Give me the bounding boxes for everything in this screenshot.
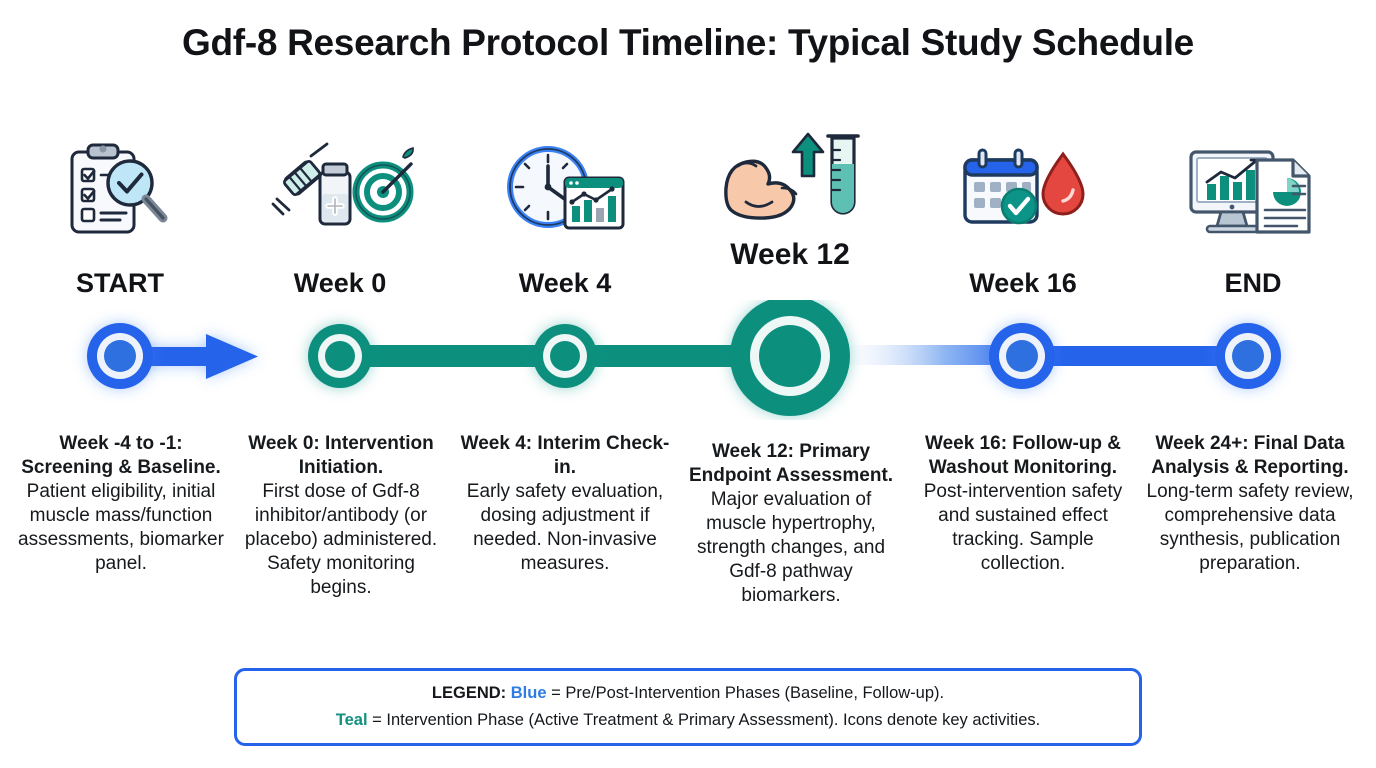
- clipboard-magnifier-icon: [0, 150, 240, 240]
- connector-week0-week4: [340, 345, 565, 367]
- legend-blue-desc: = Pre/Post-Intervention Phases (Baseline…: [551, 684, 944, 702]
- infographic-canvas: Gdf-8 Research Protocol Timeline: Typica…: [0, 0, 1376, 768]
- legend-line-2: Teal = Intervention Phase (Active Treatm…: [336, 707, 1040, 734]
- node-week-16: [989, 323, 1055, 389]
- caption-heading: Week 12: Primary Endpoint Assessment.: [680, 440, 902, 488]
- legend-blue-key: Blue: [511, 684, 547, 702]
- caption-heading: Week -4 to -1: Screening & Baseline.: [12, 432, 230, 480]
- calendar-check-blooddrop-icon: [912, 150, 1134, 240]
- caption-body: Patient eligibility, initial muscle mass…: [12, 480, 230, 576]
- node-week-0: [308, 324, 372, 388]
- page-title: Gdf-8 Research Protocol Timeline: Typica…: [0, 22, 1376, 64]
- milestone-label-week-16: Week 16: [912, 268, 1134, 299]
- legend-teal-desc: = Intervention Phase (Active Treatment &…: [372, 711, 1040, 729]
- node-week-4: [533, 324, 597, 388]
- legend-box: LEGEND: Blue = Pre/Post-Intervention Pha…: [234, 668, 1142, 746]
- connector-week16-end: [1022, 346, 1248, 366]
- bicep-arrow-testtube-icon: [675, 130, 905, 230]
- clock-dashboard-icon: [455, 150, 675, 240]
- caption-body: First dose of Gdf-8 inhibitor/antibody (…: [234, 480, 448, 600]
- caption-start: Week -4 to -1: Screening & Baseline. Pat…: [12, 432, 230, 576]
- caption-heading: Week 0: Intervention Initiation.: [234, 432, 448, 480]
- caption-week-12: Week 12: Primary Endpoint Assessment. Ma…: [680, 440, 902, 608]
- legend-label: LEGEND:: [432, 684, 506, 702]
- monitor-chart-report-icon: [1140, 150, 1366, 240]
- milestone-label-week-0: Week 0: [225, 268, 455, 299]
- milestone-label-week-4: Week 4: [455, 268, 675, 299]
- caption-end: Week 24+: Final Data Analysis & Reportin…: [1138, 432, 1362, 576]
- caption-week-4: Week 4: Interim Check-in. Early safety e…: [460, 432, 670, 576]
- timeline-track: [0, 300, 1376, 420]
- caption-body: Early safety evaluation, dosing adjustme…: [460, 480, 670, 576]
- node-start: [87, 323, 153, 389]
- milestone-label-week-12: Week 12: [675, 238, 905, 272]
- milestone-label-start: START: [0, 268, 240, 299]
- node-end: [1215, 323, 1281, 389]
- legend-line-1: LEGEND: Blue = Pre/Post-Intervention Pha…: [432, 680, 944, 707]
- caption-body: Post-intervention safety and sustained e…: [916, 480, 1130, 576]
- caption-body: Major evaluation of muscle hypertrophy, …: [680, 488, 902, 608]
- caption-heading: Week 24+: Final Data Analysis & Reportin…: [1138, 432, 1362, 480]
- caption-body: Long-term safety review, comprehensive d…: [1138, 480, 1362, 576]
- caption-week-16: Week 16: Follow-up & Washout Monitoring.…: [916, 432, 1130, 576]
- milestone-label-end: END: [1140, 268, 1366, 299]
- node-week-12: [730, 300, 850, 416]
- syringe-vial-target-icon: [225, 150, 455, 240]
- caption-heading: Week 16: Follow-up & Washout Monitoring.: [916, 432, 1130, 480]
- legend-teal-key: Teal: [336, 711, 368, 729]
- caption-heading: Week 4: Interim Check-in.: [460, 432, 670, 480]
- caption-week-0: Week 0: Intervention Initiation. First d…: [234, 432, 448, 600]
